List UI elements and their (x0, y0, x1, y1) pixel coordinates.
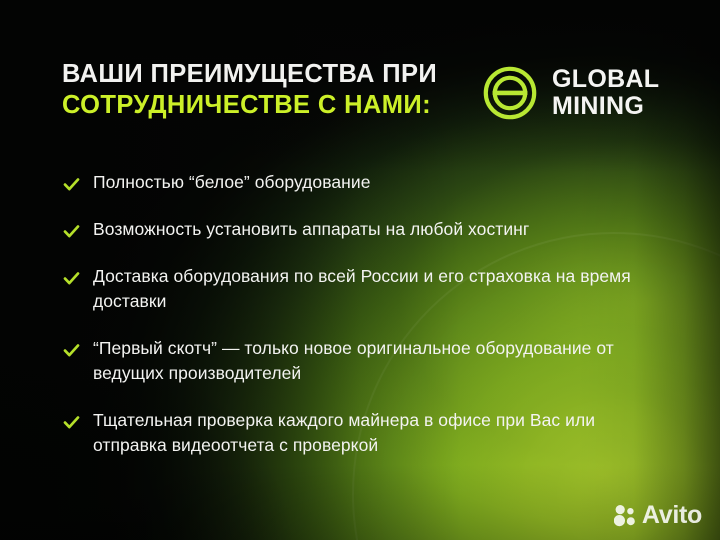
page-title-line-1: ВАШИ ПРЕИМУЩЕСТВА ПРИ (62, 59, 462, 90)
brand-logo: GLOBAL MINING (483, 66, 659, 120)
check-icon (63, 223, 80, 240)
promo-poster: ВАШИ ПРЕИМУЩЕСТВА ПРИ СОТРУДНИЧЕСТВЕ С Н… (0, 0, 720, 540)
avito-watermark: Avito (614, 503, 702, 528)
check-icon (63, 342, 80, 359)
list-item-label: Полностью “белое” оборудование (93, 170, 371, 195)
check-icon (63, 176, 80, 193)
avito-label: Avito (642, 503, 702, 528)
list-item-label: Тщательная проверка каждого майнера в оф… (93, 408, 653, 458)
list-item-label: Доставка оборудования по всей России и е… (93, 264, 653, 314)
global-mining-ring-icon (483, 66, 537, 120)
list-item: “Первый скотч” — только новое оригинальн… (63, 336, 680, 386)
list-item: Полностью “белое” оборудование (63, 170, 680, 195)
check-icon (63, 270, 80, 287)
list-item: Возможность установить аппараты на любой… (63, 217, 680, 242)
list-item: Доставка оборудования по всей России и е… (63, 264, 680, 314)
page-title-line-2: СОТРУДНИЧЕСТВЕ С НАМИ: (62, 90, 462, 121)
brand-name-line-1: GLOBAL (552, 66, 659, 93)
list-item: Тщательная проверка каждого майнера в оф… (63, 408, 680, 458)
check-icon (63, 414, 80, 431)
brand-name: GLOBAL MINING (552, 66, 659, 120)
benefits-list: Полностью “белое” оборудование Возможнос… (63, 170, 680, 458)
avito-dots-icon (614, 504, 637, 527)
page-title: ВАШИ ПРЕИМУЩЕСТВА ПРИ СОТРУДНИЧЕСТВЕ С Н… (62, 59, 462, 121)
list-item-label: “Первый скотч” — только новое оригинальн… (93, 336, 653, 386)
brand-name-line-2: MINING (552, 93, 659, 120)
poster-content: ВАШИ ПРЕИМУЩЕСТВА ПРИ СОТРУДНИЧЕСТВЕ С Н… (0, 0, 720, 540)
list-item-label: Возможность установить аппараты на любой… (93, 217, 529, 242)
